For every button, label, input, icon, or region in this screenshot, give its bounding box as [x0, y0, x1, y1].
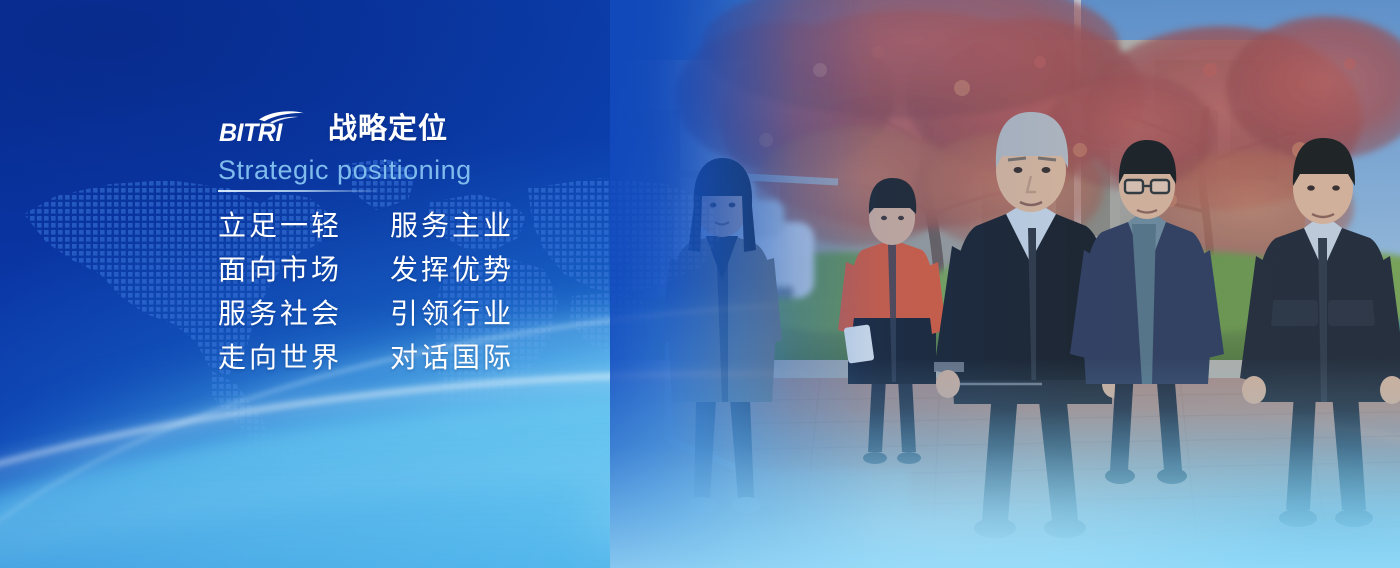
banner-subtitle-en: Strategic positioning	[218, 156, 688, 185]
slogan-4-right: 对话国际	[390, 344, 514, 372]
slogan-1-left: 立足一轻	[218, 212, 360, 240]
slogan-row-3: 服务社会 引领行业	[218, 300, 688, 328]
banner-content: BITRI 战略定位 Strategic positioning 立足一轻 服务…	[218, 104, 688, 372]
bitri-logo: BITRI	[218, 108, 314, 146]
slogan-4-left: 走向世界	[218, 344, 360, 372]
slogan-2-left: 面向市场	[218, 256, 360, 284]
title-divider	[218, 190, 376, 192]
slogan-list: 立足一轻 服务主业 面向市场 发挥优势 服务社会 引领行业 走向世界 对话国际	[218, 212, 688, 372]
title-row: BITRI 战略定位	[218, 104, 688, 146]
slogan-3-left: 服务社会	[218, 300, 360, 328]
banner-title-cn: 战略定位	[328, 115, 448, 146]
hero-banner: BITRI 战略定位 Strategic positioning 立足一轻 服务…	[0, 0, 1400, 568]
slogan-3-right: 引领行业	[390, 300, 514, 328]
banner-photo	[610, 0, 1400, 568]
slogan-1-right: 服务主业	[390, 212, 514, 240]
slogan-row-2: 面向市场 发挥优势	[218, 256, 688, 284]
slogan-row-1: 立足一轻 服务主业	[218, 212, 688, 240]
slogan-row-4: 走向世界 对话国际	[218, 344, 688, 372]
svg-text:BITRI: BITRI	[219, 119, 283, 146]
slogan-2-right: 发挥优势	[390, 256, 514, 284]
